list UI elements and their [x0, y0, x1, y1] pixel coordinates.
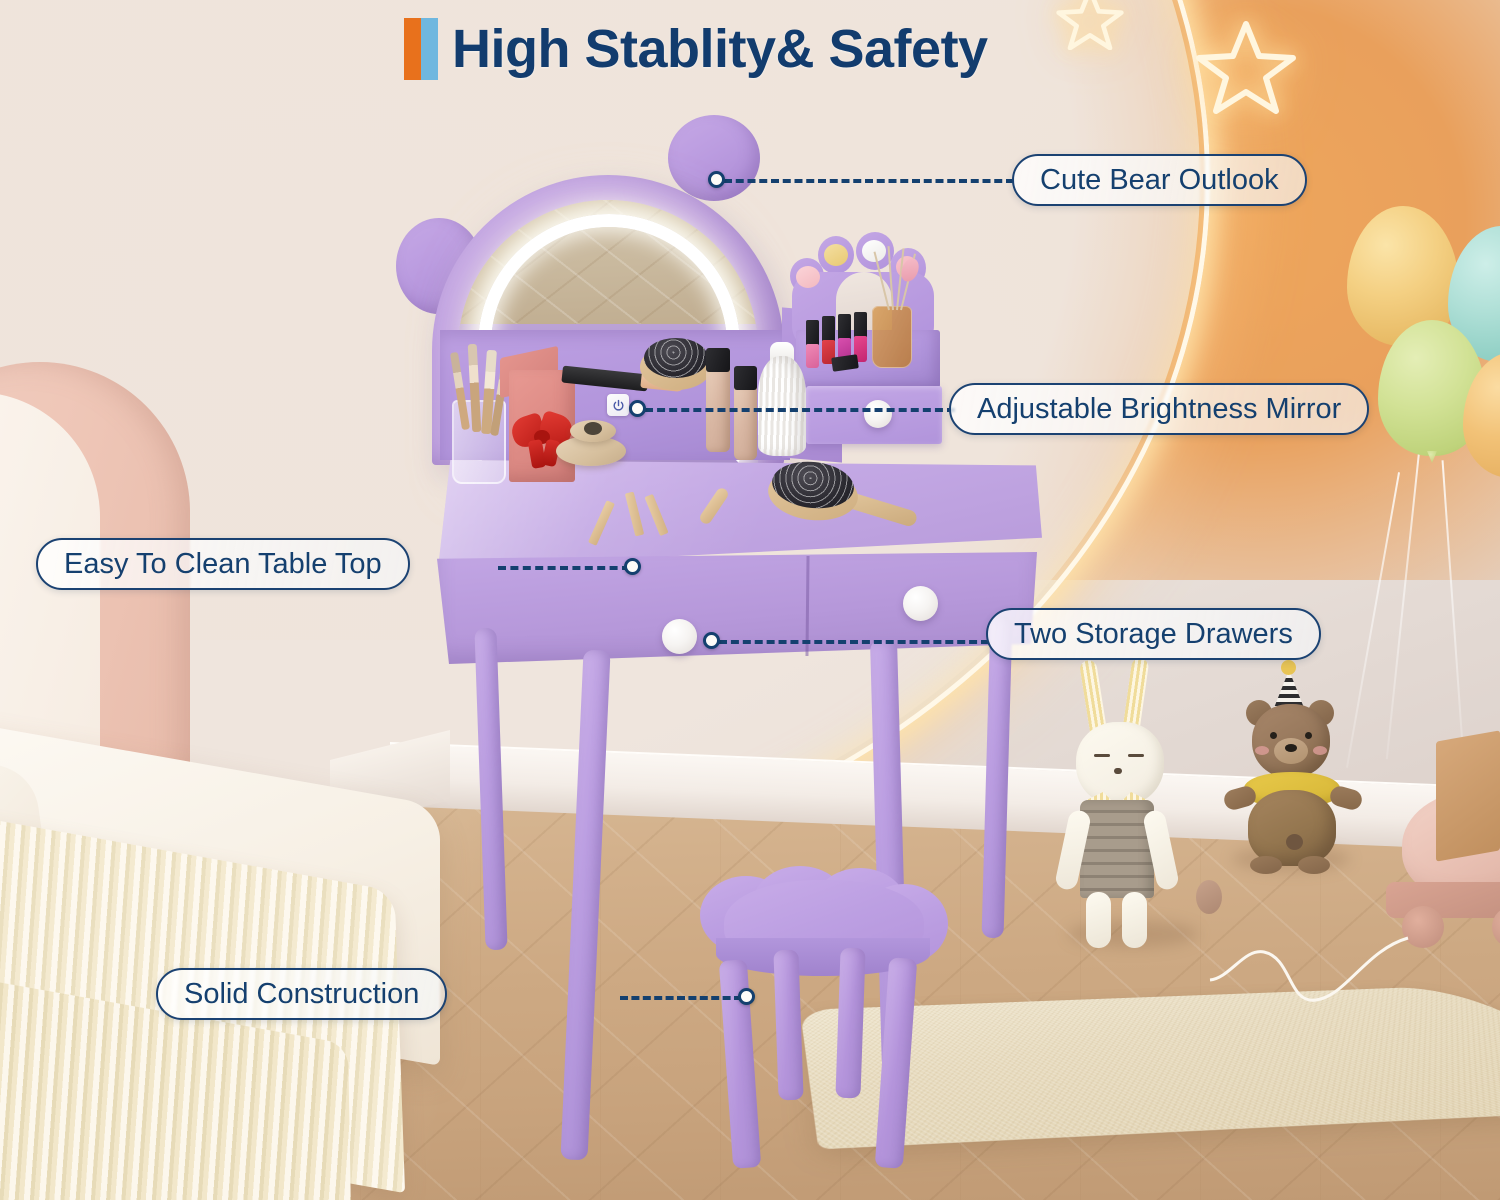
- callout-dot-solid-construction: [738, 988, 755, 1005]
- drawer-knob-left[interactable]: [662, 619, 697, 654]
- callout-dot-cute-bear-outlook: [708, 171, 725, 188]
- cosmetic-bottle-cap: [734, 366, 757, 390]
- cardboard-box: [1436, 730, 1500, 861]
- cosmetic-bottle-cap: [706, 348, 730, 372]
- plush-bunny: [1062, 660, 1212, 940]
- ribbed-white-vase: [758, 356, 806, 456]
- organizer-drawer-knob[interactable]: [864, 400, 892, 428]
- callout-solid-construction[interactable]: Solid Construction: [156, 968, 447, 1020]
- neon-star-icon: [1196, 18, 1296, 114]
- wooden-bead: [1196, 880, 1222, 914]
- callout-leader-cute-bear-outlook: [724, 179, 1014, 183]
- page-title: High Stablity& Safety: [404, 18, 988, 80]
- paw-dot-yellow: [824, 244, 848, 266]
- polish-bottle-pink: [806, 344, 819, 368]
- hairbrush-bristle-tex: [644, 338, 708, 378]
- callout-leader-two-storage-drawers: [719, 640, 989, 644]
- power-icon: [612, 399, 625, 412]
- callout-leader-adjustable-brightness-mirror: [645, 408, 955, 412]
- callout-adjustable-brightness-mirror[interactable]: Adjustable Brightness Mirror: [949, 383, 1369, 435]
- reed-diffuser-bottle: [872, 306, 912, 368]
- callout-easy-to-clean-table-top[interactable]: Easy To Clean Table Top: [36, 538, 410, 590]
- touch-power-button[interactable]: [607, 394, 629, 416]
- callout-dot-easy-to-clean-table-top: [624, 558, 641, 575]
- neon-star-small-icon: [1056, 0, 1124, 50]
- infographic-canvas: High Stablity& Safety Cute Bear Outlook …: [0, 0, 1500, 1200]
- title-text: High Stablity& Safety: [452, 18, 988, 80]
- polish-cap: [838, 314, 851, 340]
- polish-cap: [806, 320, 819, 346]
- compact-lid-emblem: [584, 422, 602, 435]
- polish-cap: [822, 316, 835, 342]
- stool-leg-back-left: [773, 950, 803, 1101]
- callout-cute-bear-outlook[interactable]: Cute Bear Outlook: [1012, 154, 1307, 206]
- title-accent-bars: [404, 18, 438, 80]
- drawer-knob-right[interactable]: [903, 586, 938, 621]
- callout-leader-easy-to-clean-table-top: [498, 566, 630, 570]
- pull-toy-string: [1196, 930, 1416, 1020]
- callout-dot-two-storage-drawers: [703, 632, 720, 649]
- stool-leg-back-right: [835, 948, 865, 1099]
- accent-bar-blue: [421, 18, 438, 80]
- cosmetic-bottle-short: [734, 384, 757, 460]
- callout-dot-adjustable-brightness-mirror: [629, 400, 646, 417]
- paw-dot-pink: [796, 266, 820, 288]
- polish-cap: [854, 312, 867, 338]
- callout-two-storage-drawers[interactable]: Two Storage Drawers: [986, 608, 1321, 660]
- bear-ear-right: [668, 115, 760, 201]
- accent-bar-orange: [404, 18, 421, 80]
- plush-teddy-bear: [1226, 684, 1358, 864]
- callout-leader-solid-construction: [620, 996, 742, 1000]
